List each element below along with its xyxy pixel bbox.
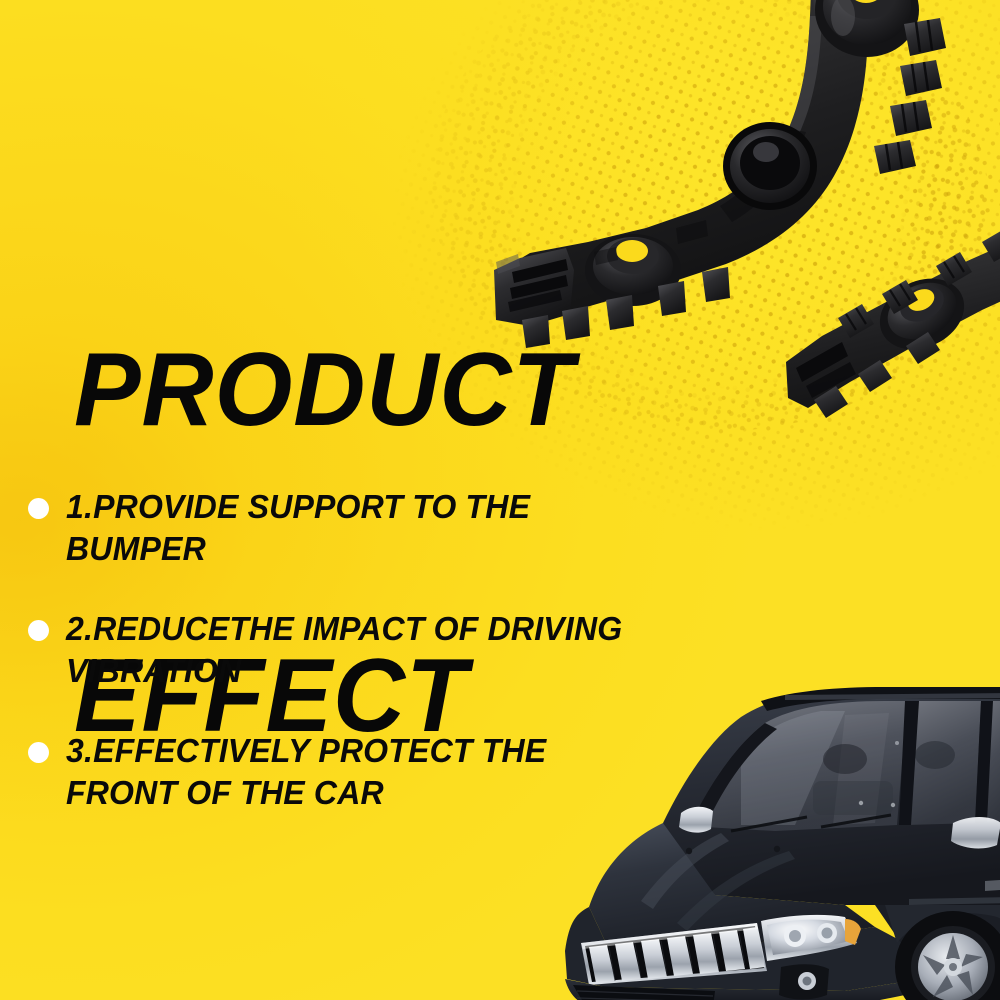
product-effect-poster: PRODUCT EFFECT: [0, 0, 1000, 1000]
benefits-list: 1.PROVIDE SUPPORT TO THE BUMPER 2.REDUCE…: [28, 486, 648, 851]
list-item-label: 2.REDUCETHE IMPACT OF DRIVING VIBRATION: [66, 608, 631, 692]
list-item-label: 3.EFFECTIVELY PROTECT THE FRONT OF THE C…: [66, 730, 631, 814]
vehicle-mirror-right: [951, 817, 1000, 848]
list-item: 1.PROVIDE SUPPORT TO THE BUMPER: [28, 486, 648, 570]
bracket-small: [786, 228, 1000, 418]
bullet-dot-icon: [28, 498, 49, 519]
bullet-dot-icon: [28, 742, 49, 763]
list-item: 2.REDUCETHE IMPACT OF DRIVING VIBRATION: [28, 608, 648, 692]
bullet-dot-icon: [28, 620, 49, 641]
page-title-line-1: PRODUCT: [74, 340, 574, 442]
list-item: 3.EFFECTIVELY PROTECT THE FRONT OF THE C…: [28, 730, 648, 814]
list-item-label: 1.PROVIDE SUPPORT TO THE BUMPER: [66, 486, 631, 570]
